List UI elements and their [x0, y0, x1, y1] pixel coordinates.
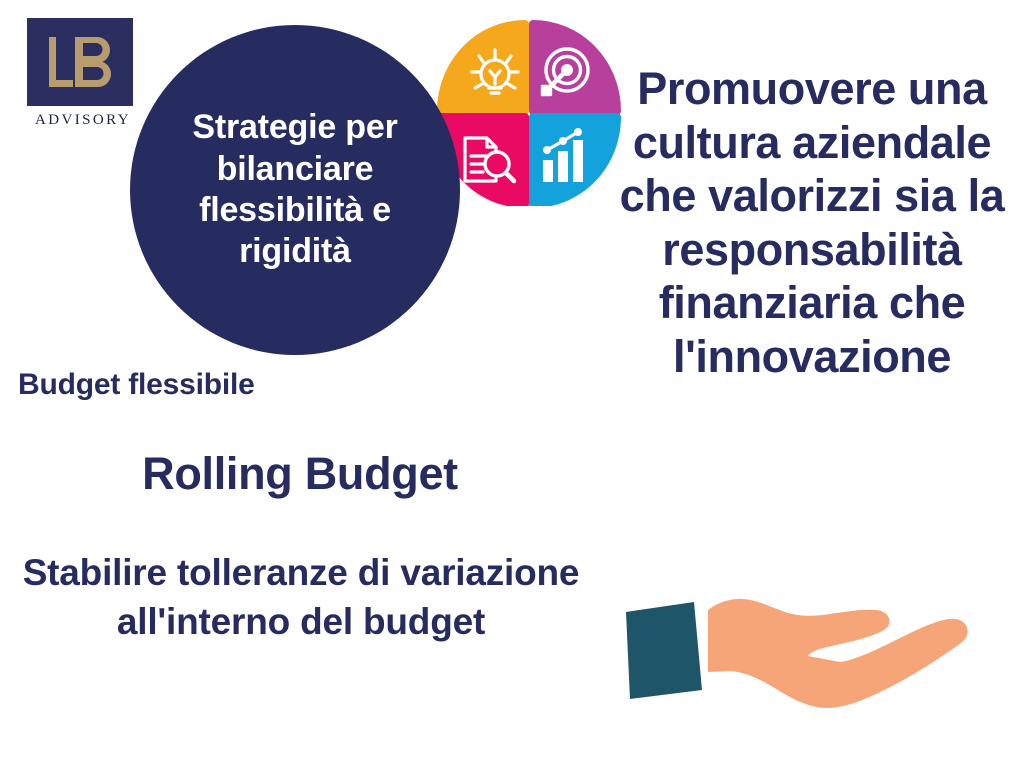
- open-hand-icon: [604, 572, 1024, 768]
- sleeve-shape: [626, 602, 702, 699]
- quadrant-target: [533, 24, 617, 111]
- company-logo: ADVISORY: [27, 18, 139, 129]
- quadrant-bar-chart: [533, 117, 617, 204]
- logo-wordmark-text: ADVISORY: [27, 112, 139, 129]
- strategy-circle-label: Strategie per bilanciare flessibilità e …: [150, 107, 440, 273]
- label-budget-flessibile: Budget flessibile: [18, 368, 255, 402]
- right-headline: Promuovere una cultura aziendale che val…: [602, 62, 1022, 383]
- slide-canvas: ADVISORY Strategie per bilanciare flessi…: [0, 0, 1024, 768]
- strategy-circle: Strategie per bilanciare flessibilità e …: [130, 25, 460, 355]
- icon-wheel: [437, 16, 621, 206]
- hand-shape: [708, 599, 968, 708]
- logo-monogram-mark: [27, 18, 133, 106]
- label-tolleranze-variazione: Stabilire tolleranze di variazione all'i…: [8, 548, 594, 646]
- quadrant-lightbulb: [441, 24, 525, 111]
- lb-monogram-icon: [45, 33, 115, 91]
- open-hand-illustration: [604, 572, 1024, 768]
- label-rolling-budget: Rolling Budget: [0, 448, 600, 500]
